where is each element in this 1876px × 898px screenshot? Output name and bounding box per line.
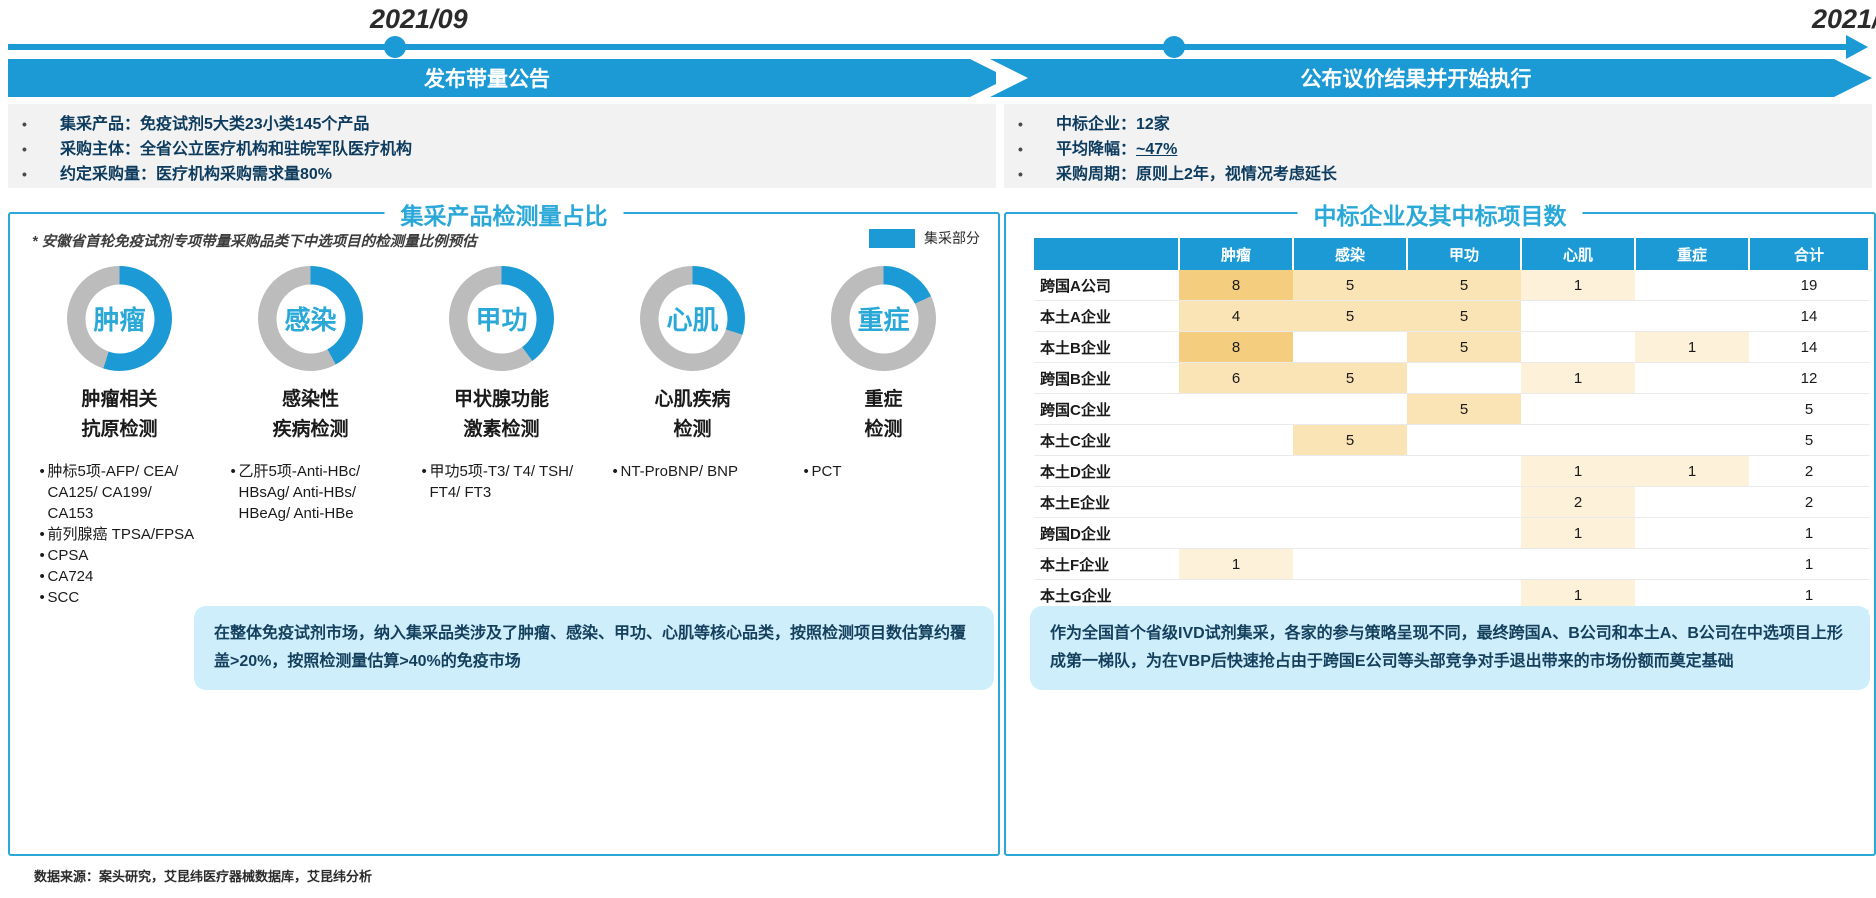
donut-column: 重症重症检测•PCT: [788, 266, 979, 608]
list-item-label: 乙肝5项-Anti-HBc/ HBsAg/ Anti-HBs/ HBeAg/ A…: [239, 461, 391, 524]
table-cell: [1635, 270, 1749, 301]
bullet-icon: •: [613, 461, 621, 482]
list-item-label: PCT: [812, 461, 964, 482]
list-item: •约定采购量：医疗机构采购需求量80%: [22, 162, 996, 187]
phase-banner-1: 发布带量公告: [8, 59, 996, 97]
table-body: 跨国A公司855119本土A企业45514本土B企业85114跨国B企业6511…: [1034, 270, 1869, 642]
list-item-label: CA724: [48, 566, 200, 587]
donut-center-label: 肿瘤: [67, 266, 172, 371]
table-header-row: 肿瘤感染甲功心肌重症合计: [1034, 238, 1869, 270]
donut-chart-row: 肿瘤肿瘤相关抗原检测•肿标5项-AFP/ CEA/ CA125/ CA199/ …: [24, 266, 980, 608]
left-panel-note: * 安徽省首轮免疫试剂专项带量采购品类下中选项目的检测量比例预估: [32, 230, 477, 251]
table-row-label: 本土F企业: [1034, 549, 1179, 580]
bullet-icon: •: [1018, 112, 1056, 136]
table-row-label: 跨国A公司: [1034, 270, 1179, 301]
table-row: 跨国A公司855119: [1034, 270, 1869, 301]
table-header-cell: 感染: [1293, 238, 1407, 270]
list-item: •NT-ProBNP/ BNP: [613, 461, 773, 482]
bullet-icon: •: [40, 566, 48, 587]
footer-source: 数据来源：案头研究，艾昆纬医疗器械数据库，艾昆纬分析: [34, 866, 372, 885]
list-item-label: 甲功5项-T3/ T4/ TSH/ FT4/ FT3: [430, 461, 582, 503]
table-cell: [1635, 487, 1749, 518]
list-item: •肿标5项-AFP/ CEA/ CA125/ CA199/ CA153: [40, 461, 200, 524]
table-cell: [1407, 487, 1521, 518]
table-row-label: 本土E企业: [1034, 487, 1179, 518]
list-item: •集采产品：免疫试剂5大类23小类145个产品: [22, 112, 996, 137]
table-cell: [1635, 549, 1749, 580]
table-cell: 1: [1521, 270, 1635, 301]
donut-chart-重症: 重症: [831, 266, 936, 371]
donut-center-label: 甲功: [449, 266, 554, 371]
list-item: •采购主体：全省公立医疗机构和驻皖军队医疗机构: [22, 137, 996, 162]
bullet-icon: •: [22, 137, 60, 161]
donut-column: 感染感染性疾病检测•乙肝5项-Anti-HBc/ HBsAg/ Anti-HBs…: [215, 266, 406, 608]
table-cell: [1635, 518, 1749, 549]
bullet-text: 约定采购量：医疗机构采购需求量80%: [60, 163, 332, 187]
donut-item-list: •肿标5项-AFP/ CEA/ CA125/ CA199/ CA153•前列腺癌…: [40, 461, 200, 608]
timeline-axis: [8, 44, 1846, 50]
table-cell-total: 2: [1749, 487, 1869, 518]
list-item: •CA724: [40, 566, 200, 587]
donut-title: 甲状腺功能激素检测: [454, 385, 549, 445]
table-row: 跨国C企业55: [1034, 394, 1869, 425]
table-cell: [1293, 518, 1407, 549]
table-cell: [1407, 456, 1521, 487]
list-item: •中标企业：12家: [1018, 112, 1872, 137]
table-cell: [1179, 487, 1293, 518]
table-cell: 8: [1179, 270, 1293, 301]
table-row-label: 本土C企业: [1034, 425, 1179, 456]
table-cell: [1635, 301, 1749, 332]
donut-column: 甲功甲状腺功能激素检测•甲功5项-T3/ T4/ TSH/ FT4/ FT3: [406, 266, 597, 608]
table-cell: 1: [1179, 549, 1293, 580]
table-cell: [1521, 332, 1635, 363]
table-cell: [1407, 518, 1521, 549]
table-cell-total: 1: [1749, 549, 1869, 580]
table-header-cell: 合计: [1749, 238, 1869, 270]
list-item-label: 前列腺癌 TPSA/FPSA: [48, 524, 200, 545]
bullet-icon: •: [40, 587, 48, 608]
bullet-icon: •: [231, 461, 239, 524]
table-cell: [1635, 394, 1749, 425]
table-cell: 1: [1635, 332, 1749, 363]
table-cell-total: 1: [1749, 518, 1869, 549]
table-cell: 5: [1407, 301, 1521, 332]
award-table: 肿瘤感染甲功心肌重症合计 跨国A公司855119本土A企业45514本土B企业8…: [1034, 238, 1870, 642]
table-row: 本土B企业85114: [1034, 332, 1869, 363]
donut-title: 心肌疾病检测: [654, 385, 730, 445]
table-cell: [1293, 549, 1407, 580]
bullet-icon: •: [804, 461, 812, 482]
table-cell: [1179, 394, 1293, 425]
table-cell-total: 2: [1749, 456, 1869, 487]
right-panel: 中标企业及其中标项目数 肿瘤感染甲功心肌重症合计 跨国A公司855119本土A企…: [1004, 212, 1876, 856]
table-cell: [1407, 363, 1521, 394]
donut-chart-肿瘤: 肿瘤: [67, 266, 172, 371]
table-cell: [1407, 425, 1521, 456]
table-row: 跨国B企业65112: [1034, 363, 1869, 394]
table-cell: 2: [1521, 487, 1635, 518]
bullet-text: 中标企业：12家: [1056, 113, 1170, 137]
timeline-dot-2: [1163, 36, 1185, 58]
list-item: •PCT: [804, 461, 964, 482]
table-cell: [1635, 363, 1749, 394]
table-cell: 1: [1521, 518, 1635, 549]
donut-center-label: 心肌: [640, 266, 745, 371]
donut-title: 感染性疾病检测: [272, 385, 348, 445]
table-cell: [1521, 549, 1635, 580]
list-item: •SCC: [40, 587, 200, 608]
table-cell: 5: [1293, 301, 1407, 332]
bullet-icon: •: [40, 524, 48, 545]
left-panel-title: 集采产品检测量占比: [385, 197, 624, 231]
timeline-dot-1: [384, 36, 406, 58]
left-panel: 集采产品检测量占比 * 安徽省首轮免疫试剂专项带量采购品类下中选项目的检测量比例…: [8, 212, 1000, 856]
bullet-icon: •: [40, 461, 48, 524]
bullet-icon: •: [40, 545, 48, 566]
bullet-text: 平均降幅：: [1056, 138, 1136, 162]
right-panel-title: 中标企业及其中标项目数: [1298, 197, 1583, 231]
donut-title: 肿瘤相关抗原检测: [81, 385, 157, 445]
bullet-text: 采购主体：全省公立医疗机构和驻皖军队医疗机构: [60, 138, 412, 162]
award-table-wrap: 肿瘤感染甲功心肌重症合计 跨国A公司855119本土A企业45514本土B企业8…: [1034, 238, 1842, 642]
table-cell: 4: [1179, 301, 1293, 332]
bullet-icon: •: [422, 461, 430, 503]
table-cell-total: 19: [1749, 270, 1869, 301]
table-cell-total: 14: [1749, 301, 1869, 332]
table-row: 本土F企业11: [1034, 549, 1869, 580]
donut-item-list: •PCT: [804, 461, 964, 482]
donut-column: 心肌心肌疾病检测•NT-ProBNP/ BNP: [597, 266, 788, 608]
donut-center-label: 感染: [258, 266, 363, 371]
table-cell: [1521, 394, 1635, 425]
donut-column: 肿瘤肿瘤相关抗原检测•肿标5项-AFP/ CEA/ CA125/ CA199/ …: [24, 266, 215, 608]
table-cell: 5: [1293, 425, 1407, 456]
donut-item-list: •甲功5项-T3/ T4/ TSH/ FT4/ FT3: [422, 461, 582, 503]
timeline-arrow-icon: [1846, 35, 1868, 59]
list-item: •CPSA: [40, 545, 200, 566]
donut-item-list: •乙肝5项-Anti-HBc/ HBsAg/ Anti-HBs/ HBeAg/ …: [231, 461, 391, 524]
phase-banner-2-label: 公布议价结果并开始执行: [1301, 63, 1532, 93]
table-cell-total: 5: [1749, 425, 1869, 456]
table-header-cell: 心肌: [1521, 238, 1635, 270]
table-cell: [1179, 456, 1293, 487]
table-row: 本土D企业112: [1034, 456, 1869, 487]
table-row-label: 跨国C企业: [1034, 394, 1179, 425]
list-item: •甲功5项-T3/ T4/ TSH/ FT4/ FT3: [422, 461, 582, 503]
table-row: 本土E企业22: [1034, 487, 1869, 518]
table-cell: 1: [1635, 456, 1749, 487]
legend-swatch-icon: [869, 229, 915, 248]
table-cell: 8: [1179, 332, 1293, 363]
table-header-cell: 甲功: [1407, 238, 1521, 270]
list-item-label: SCC: [48, 587, 200, 608]
bullet-icon: •: [22, 112, 60, 136]
list-item: •平均降幅： ~47%: [1018, 137, 1872, 162]
table-cell: [1293, 394, 1407, 425]
table-cell: [1635, 425, 1749, 456]
phase-banner-1-label: 发布带量公告: [424, 63, 550, 93]
table-cell: [1293, 487, 1407, 518]
table-row: 本土C企业55: [1034, 425, 1869, 456]
table-cell: 5: [1293, 270, 1407, 301]
table-cell: 1: [1521, 363, 1635, 394]
table-cell: [1293, 332, 1407, 363]
donut-chart-感染: 感染: [258, 266, 363, 371]
table-cell: 1: [1521, 456, 1635, 487]
table-cell: [1179, 425, 1293, 456]
table-header-cell: 肿瘤: [1179, 238, 1293, 270]
table-row: 跨国D企业11: [1034, 518, 1869, 549]
table-header-cell: 重症: [1635, 238, 1749, 270]
table-cell: [1407, 549, 1521, 580]
list-item-label: 肿标5项-AFP/ CEA/ CA125/ CA199/ CA153: [48, 461, 200, 524]
phase-banner-2: 公布议价结果并开始执行: [990, 59, 1872, 97]
list-item-label: NT-ProBNP/ BNP: [621, 461, 773, 482]
table-cell-total: 5: [1749, 394, 1869, 425]
table-cell: [1179, 518, 1293, 549]
bullet-icon: •: [22, 162, 60, 186]
table-cell: [1521, 425, 1635, 456]
left-summary-box: 在整体免疫试剂市场，纳入集采品类涉及了肿瘤、感染、甲功、心肌等核心品类，按照检测…: [194, 606, 994, 690]
table-cell-total: 14: [1749, 332, 1869, 363]
bullet-icon: •: [1018, 162, 1056, 186]
legend-label: 集采部分: [924, 228, 980, 248]
donut-chart-心肌: 心肌: [640, 266, 745, 371]
list-item: •采购周期：原则上2年，视情况考虑延长: [1018, 162, 1872, 187]
milestone-date-1: 2021/09: [370, 4, 468, 35]
table-cell: 5: [1407, 332, 1521, 363]
table-row-label: 跨国D企业: [1034, 518, 1179, 549]
list-item: •前列腺癌 TPSA/FPSA: [40, 524, 200, 545]
table-cell: 5: [1407, 394, 1521, 425]
table-cell: [1521, 301, 1635, 332]
bullet-text: 采购周期：原则上2年，视情况考虑延长: [1056, 163, 1337, 187]
donut-chart-甲功: 甲功: [449, 266, 554, 371]
phase-1-bullets: •集采产品：免疫试剂5大类23小类145个产品 •采购主体：全省公立医疗机构和驻…: [8, 104, 996, 188]
bullet-text: 集采产品：免疫试剂5大类23小类145个产品: [60, 113, 369, 137]
phase-2-bullets: •中标企业：12家 •平均降幅： ~47% •采购周期：原则上2年，视情况考虑延…: [1004, 104, 1872, 188]
right-summary-box: 作为全国首个省级IVD试剂集采，各家的参与策略呈现不同，最终跨国A、B公司和本土…: [1030, 606, 1870, 690]
table-row-label: 本土B企业: [1034, 332, 1179, 363]
table-cell-total: 12: [1749, 363, 1869, 394]
legend: 集采部分: [869, 228, 980, 248]
table-header-cell: [1034, 238, 1179, 270]
bullet-text-underlined: ~47%: [1136, 138, 1177, 162]
table-row-label: 本土A企业: [1034, 301, 1179, 332]
table-row-label: 跨国B企业: [1034, 363, 1179, 394]
table-row-label: 本土D企业: [1034, 456, 1179, 487]
table-cell: [1293, 456, 1407, 487]
table-cell: 5: [1407, 270, 1521, 301]
table-row: 本土A企业45514: [1034, 301, 1869, 332]
donut-item-list: •NT-ProBNP/ BNP: [613, 461, 773, 482]
list-item-label: CPSA: [48, 545, 200, 566]
bullet-icon: •: [1018, 137, 1056, 161]
donut-title: 重症检测: [864, 385, 902, 445]
table-cell: 6: [1179, 363, 1293, 394]
donut-center-label: 重症: [831, 266, 936, 371]
list-item: •乙肝5项-Anti-HBc/ HBsAg/ Anti-HBs/ HBeAg/ …: [231, 461, 391, 524]
milestone-date-2: 2021/11: [1812, 4, 1876, 35]
table-cell: 5: [1293, 363, 1407, 394]
